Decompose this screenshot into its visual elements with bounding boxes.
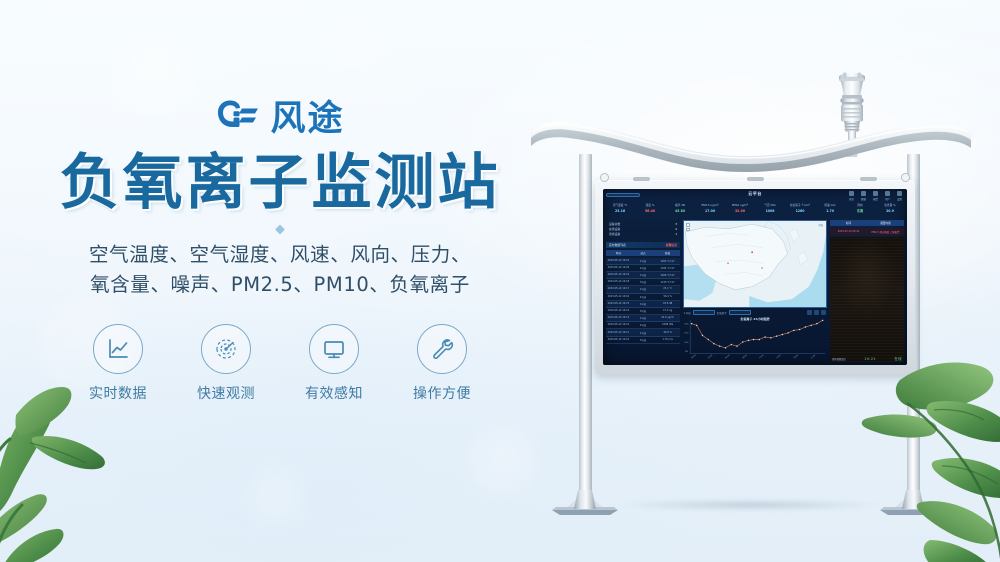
svg-text:2000: 2000 — [684, 323, 688, 325]
wind-cloud-logo-icon — [215, 99, 261, 139]
chart-graphic: 00:00 03:00 06:00 09:00 12:00 15:00 18:0… — [683, 317, 827, 362]
svg-text:09:00: 09:00 — [742, 354, 748, 359]
cell-value: 20.9 % — [655, 331, 680, 335]
nav-label: 数据 — [861, 198, 866, 201]
cell-value: 32.0 ug/m³ — [655, 316, 680, 320]
foliage-left — [0, 355, 176, 562]
cell-station: 3号站 — [631, 338, 656, 342]
feature-label: 操作方便 — [404, 383, 480, 403]
support-post-left — [579, 154, 592, 499]
dashboard-left-panel: 设备总数3 在线设备2 离线设备1 实时数据列表 报警信息 时间 站点 数值 — [606, 220, 680, 362]
cell-station: 2号站 — [631, 323, 656, 327]
stat-value: 56.40 — [636, 208, 664, 215]
cell-value: 45.8 dB — [655, 302, 680, 306]
dashboard-screen[interactable]: 云平台 首页 数据 报警 用户 设置 空气温度 ℃23.16 湿度 %56.40… — [603, 189, 907, 365]
table-row[interactable]: 2023-05-12 10:143号站17.0 ug — [606, 308, 680, 315]
cell-station: 1号站 — [631, 302, 656, 306]
stat-value: 32.00 — [726, 208, 754, 215]
stat-value: 23.16 — [606, 208, 634, 215]
nav-user[interactable]: 用户 — [884, 191, 891, 201]
cell-time: 2023-05-12 10:17 — [606, 287, 631, 291]
banner-stage: 风途 负氧离子监测站 空气温度、空气湿度、风速、风向、压力、 氧含量、噪声、PM… — [0, 0, 1000, 562]
cell-value: 1.70 m/s — [655, 338, 680, 342]
stat-cell: PM10 ug/m³32.00 — [726, 202, 754, 218]
stat-value: 东南 — [846, 208, 874, 215]
cell-value: 17.0 ug — [655, 309, 680, 313]
dashboard-title: 云平台 — [748, 191, 762, 197]
alert-time: 2023-05-12 09:42 — [830, 230, 867, 234]
nav-label: 报警 — [873, 198, 878, 201]
data-table-header: 实时数据列表 报警信息 — [606, 242, 680, 248]
wrench-icon — [429, 336, 455, 362]
trend-chart[interactable]: 负氧离子 24小时趋势 — [683, 317, 827, 362]
nav-label: 用户 — [885, 198, 890, 201]
cell-station: 1号站 — [631, 287, 656, 291]
svg-text:00:00: 00:00 — [691, 354, 697, 359]
cell-station: 2号站 — [631, 295, 656, 299]
alarm-badge[interactable]: 报警信息 — [666, 243, 677, 247]
feature-icon-circle — [309, 324, 359, 374]
map-zoom-in-icon[interactable] — [686, 223, 690, 227]
stat-cell: 负氧离子 个/cm³1260 — [786, 202, 814, 218]
fullscreen-icon[interactable] — [821, 310, 826, 315]
stat-value: 20.9 — [876, 208, 904, 215]
cell-station: 3号站 — [631, 280, 656, 284]
table-row[interactable]: 2023-05-12 10:122号站1008 hPa — [606, 322, 680, 329]
stat-cell: 空气温度 ℃23.16 — [606, 202, 634, 218]
kpi-item: 离线设备1 — [609, 232, 677, 237]
cell-value: 1130 个/cm³ — [655, 280, 680, 284]
stat-value: 1.70 — [816, 208, 844, 215]
stat-cell: 湿度 %56.40 — [636, 202, 664, 218]
stat-value: 45.80 — [666, 208, 694, 215]
settings-icon — [897, 191, 902, 196]
foliage-right — [838, 342, 1000, 562]
nav-data[interactable]: 数据 — [860, 191, 867, 201]
cell-value: 1260 个/cm³ — [655, 259, 680, 263]
feature-item-easy-operation[interactable]: 操作方便 — [404, 324, 480, 403]
brand-name: 风途 — [270, 102, 344, 137]
table-row[interactable]: 2023-05-12 10:162号站56.4 % — [606, 294, 680, 301]
table-row[interactable]: 2023-05-12 10:171号站23.1 ℃ — [606, 286, 680, 293]
cell-time: 2023-05-12 10:18 — [606, 280, 631, 284]
mount-tab-icon — [860, 177, 877, 181]
nav-label: 设置 — [897, 198, 902, 201]
nav-home[interactable]: 首页 — [848, 191, 855, 201]
cell-time: 2023-05-12 10:14 — [606, 309, 631, 313]
stat-strip: 空气温度 ℃23.16 湿度 %56.40 噪声 dB45.80 PM2.5 u… — [603, 202, 907, 218]
column-header: 站点 — [631, 251, 656, 255]
stat-value: 1008 — [756, 208, 784, 215]
feature-label: 有效感知 — [296, 383, 372, 403]
divider-dot-icon — [275, 224, 285, 234]
map-graphic — [684, 221, 826, 307]
stat-cell: 噪声 dB45.80 — [666, 202, 694, 218]
user-icon — [885, 191, 890, 196]
data-icon — [861, 191, 866, 196]
cell-value: 23.1 ℃ — [655, 287, 680, 291]
mount-tab-icon — [633, 177, 650, 181]
data-table-columns: 时间 站点 数值 — [606, 250, 680, 256]
stat-cell: 氧含量 %20.9 — [876, 202, 904, 218]
stat-value: 1260 — [786, 208, 814, 215]
column-header: 时间 — [606, 251, 631, 255]
alert-table-header: 时间 报警内容 — [830, 220, 904, 226]
svg-text:12:00: 12:00 — [759, 354, 765, 359]
stat-cell: PM2.5 ug/m³17.00 — [696, 202, 724, 218]
cell-time: 2023-05-12 10:20 — [606, 266, 631, 270]
station-selector-chip[interactable] — [606, 193, 640, 198]
radar-signal-icon — [213, 336, 239, 362]
svg-text:18:00: 18:00 — [793, 354, 799, 359]
column-header: 数值 — [655, 251, 680, 255]
table-row[interactable]: 2023-05-12 10:191号站1208 个/cm³ — [606, 272, 680, 279]
svg-text:21:00: 21:00 — [811, 354, 817, 359]
map-region-label: 中国 — [818, 223, 823, 227]
svg-text:15:00: 15:00 — [776, 354, 782, 359]
hanger-eyelet-right-icon — [901, 173, 910, 182]
cell-time: 2023-05-12 10:16 — [606, 295, 631, 299]
chart-controls: 1号站 负氧离子 — [683, 310, 827, 315]
home-icon — [849, 191, 854, 196]
brand-logo: 风途 — [0, 96, 560, 142]
cell-time: 2023-05-12 10:10 — [606, 338, 631, 342]
stat-cell: 气压 hPa1008 — [756, 202, 784, 218]
cell-station: 1号站 — [631, 331, 656, 335]
cell-time: 2023-05-12 10:11 — [606, 331, 631, 335]
dashboard-nav-icons: 首页 数据 报警 用户 设置 — [848, 191, 903, 201]
cell-station: 1号站 — [631, 259, 656, 263]
table-row[interactable]: 2023-05-12 10:103号站1.70 m/s — [606, 337, 680, 344]
refresh-icon[interactable] — [807, 310, 812, 315]
nav-settings[interactable]: 设置 — [896, 191, 903, 201]
map-zoom-out-icon[interactable] — [686, 228, 690, 232]
nav-label: 首页 — [849, 198, 854, 201]
feature-label: 快速观测 — [188, 383, 264, 403]
cell-station: 2号站 — [631, 266, 656, 270]
cell-time: 2023-05-12 10:13 — [606, 316, 631, 320]
alert-column-content: 报警内容 — [867, 221, 904, 225]
china-map[interactable]: 中国 — [683, 220, 827, 308]
chart-select-label-left: 1号站 — [684, 311, 691, 315]
cell-value: 56.4 % — [655, 295, 680, 299]
cell-value: 1184 个/cm³ — [655, 266, 680, 270]
svg-text:06:00: 06:00 — [725, 354, 731, 359]
svg-text:1000: 1000 — [684, 342, 688, 344]
table-row[interactable]: 2023-05-12 10:211号站1260 个/cm³ — [606, 258, 680, 265]
feature-item-fast-observation[interactable]: 快速观测 — [188, 324, 264, 403]
alarm-icon — [873, 191, 878, 196]
feature-item-effective-sensing[interactable]: 有效感知 — [296, 324, 372, 403]
subtitle-line-1: 空气温度、空气湿度、风速、风向、压力、 — [0, 240, 560, 270]
cell-station: 1号站 — [631, 316, 656, 320]
cell-value: 1008 hPa — [655, 323, 680, 327]
cell-time: 2023-05-12 10:21 — [606, 259, 631, 263]
cell-time: 2023-05-12 10:19 — [606, 273, 631, 277]
alert-column-time: 时间 — [830, 221, 867, 225]
alert-content: PM2.5 超过阈值 上限报警 — [867, 230, 904, 234]
alert-row[interactable]: 2023-05-12 09:42 PM2.5 超过阈值 上限报警 — [830, 228, 904, 234]
hanger-eyelet-left-icon — [600, 173, 609, 182]
kpi-label: 离线设备 — [609, 232, 620, 237]
kpi-value: 1 — [675, 232, 677, 237]
stat-cell: 风速 m/s1.70 — [816, 202, 844, 218]
cell-time: 2023-05-12 10:15 — [606, 302, 631, 306]
cell-station: 3号站 — [631, 309, 656, 313]
table-row[interactable]: 2023-05-12 10:151号站45.8 dB — [606, 301, 680, 308]
data-table-title: 实时数据列表 — [609, 243, 626, 247]
subtitle-block: 空气温度、空气湿度、风速、风向、压力、 氧含量、噪声、PM2.5、PM10、负氧… — [0, 240, 560, 300]
chart-select-label-right: 负氧离子 — [717, 311, 727, 315]
page-title: 负氧离子监测站 — [0, 152, 560, 216]
map-zoom-controls[interactable] — [686, 223, 690, 231]
cell-time: 2023-05-12 10:12 — [606, 323, 631, 327]
table-row[interactable]: 2023-05-12 10:131号站32.0 ug/m³ — [606, 315, 680, 322]
feature-icon-circle — [417, 324, 467, 374]
dashboard-right-panel: 时间 报警内容 2023-05-12 09:42 PM2.5 超过阈值 上限报警… — [830, 220, 904, 362]
svg-text:1500: 1500 — [684, 333, 688, 335]
data-table-body[interactable]: 2023-05-12 10:211号站1260 个/cm³ 2023-05-12… — [606, 258, 680, 362]
cell-value: 1208 个/cm³ — [655, 273, 680, 277]
title-divider — [0, 222, 560, 238]
svg-text:03:00: 03:00 — [708, 354, 714, 359]
table-row[interactable]: 2023-05-12 10:183号站1130 个/cm³ — [606, 279, 680, 286]
dashboard-center-panel: 中国 1号站 负氧离子 — [683, 220, 827, 362]
mount-tab-icon — [747, 177, 764, 181]
stat-value: 17.00 — [696, 208, 724, 215]
base-plate-left — [548, 490, 622, 516]
subtitle-line-2: 氧含量、噪声、PM2.5、PM10、负氧离子 — [0, 270, 560, 300]
cell-station: 1号站 — [631, 273, 656, 277]
dashboard-header: 云平台 首页 数据 报警 用户 设置 — [603, 189, 907, 202]
metric-select[interactable] — [729, 310, 751, 315]
kpi-list: 设备总数3 在线设备2 离线设备1 — [606, 220, 680, 240]
monitor-icon — [321, 336, 347, 362]
nav-alarm[interactable]: 报警 — [872, 191, 879, 201]
feature-icon-circle — [201, 324, 251, 374]
station-select[interactable] — [693, 310, 715, 315]
export-icon[interactable] — [814, 310, 819, 315]
svg-text:500: 500 — [685, 351, 688, 353]
chart-action-buttons[interactable] — [807, 310, 826, 315]
table-row[interactable]: 2023-05-12 10:111号站20.9 % — [606, 329, 680, 336]
chart-title: 负氧离子 24小时趋势 — [740, 317, 769, 321]
table-row[interactable]: 2023-05-12 10:202号站1184 个/cm³ — [606, 265, 680, 272]
stat-cell: 风向东南 — [846, 202, 874, 218]
